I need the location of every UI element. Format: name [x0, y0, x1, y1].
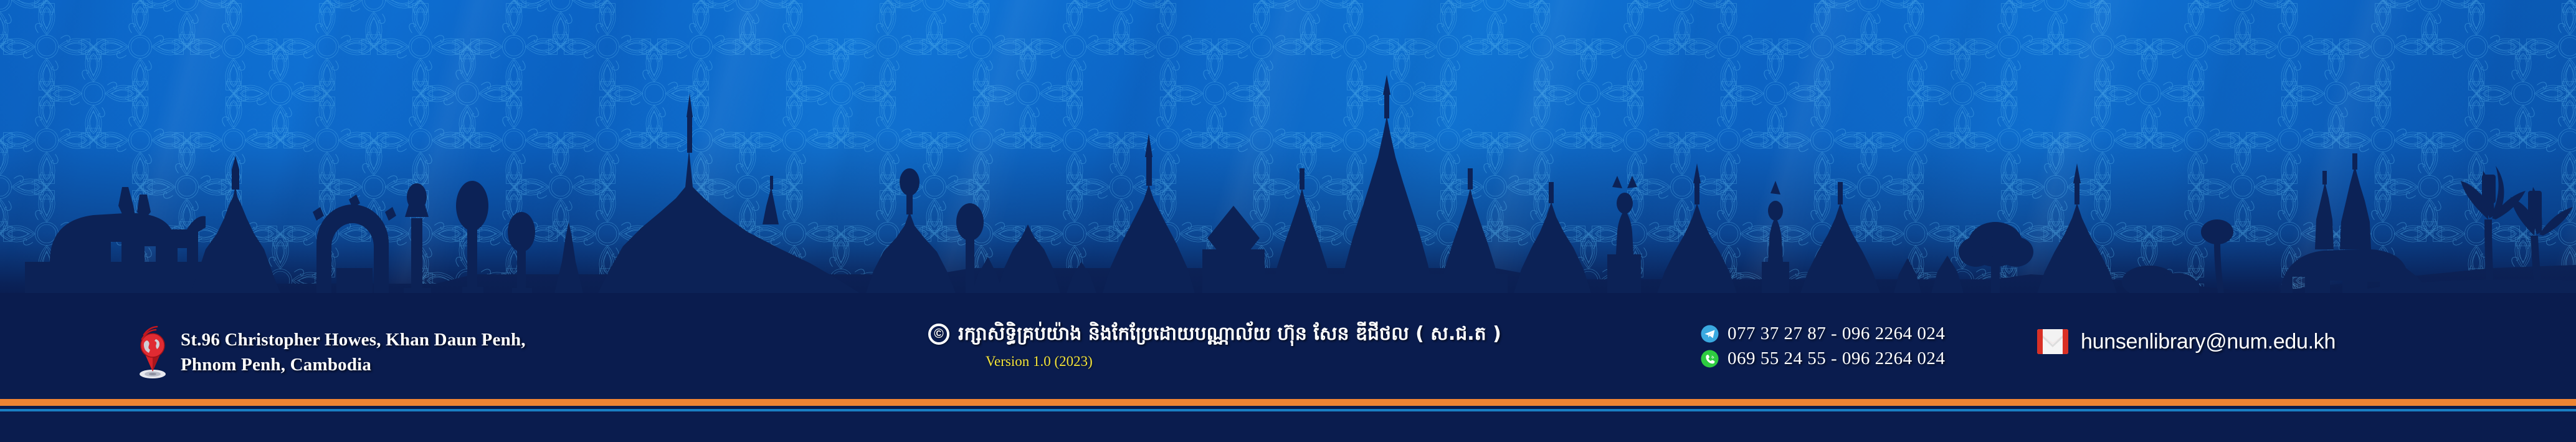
copyright-icon: ©: [928, 324, 949, 345]
cyan-divider-stripe: [0, 409, 2576, 411]
copyright-block: © រក្សាសិទ្ធិគ្រប់យ៉ាង និងកែប្រែដោយបណ្ណា…: [928, 322, 1501, 370]
copyright-row: © រក្សាសិទ្ធិគ្រប់យ៉ាង និងកែប្រែដោយបណ្ណា…: [928, 322, 1501, 347]
footer-banner: St.96 Christopher Howes, Khan Daun Penh,…: [0, 0, 2576, 442]
gmail-icon: [2037, 329, 2068, 354]
copyright-khmer-text: រក្សាសិទ្ធិគ្រប់យ៉ាង និងកែប្រែដោយបណ្ណាល័…: [958, 322, 1501, 347]
contact-row-telegram[interactable]: 077 37 27 87 - 096 2264 024: [1701, 323, 1945, 344]
email-block[interactable]: hunsenlibrary@num.edu.kh: [2037, 329, 2336, 354]
email-address: hunsenlibrary@num.edu.kh: [2081, 329, 2336, 354]
orange-divider-stripe: [0, 399, 2576, 406]
address-line-1: St.96 Christopher Howes, Khan Daun Penh,: [181, 330, 526, 350]
contact-row-phone[interactable]: 069 55 24 55 - 096 2264 024: [1701, 348, 1945, 369]
contact-phones-block: 077 37 27 87 - 096 2264 024 069 55 24 55…: [1701, 323, 1945, 369]
phone-number: 069 55 24 55 - 096 2264 024: [1728, 348, 1945, 369]
telegram-number: 077 37 27 87 - 096 2264 024: [1728, 323, 1945, 344]
footer-content: St.96 Christopher Howes, Khan Daun Penh,…: [0, 293, 2576, 399]
address-line-2: Phnom Penh, Cambodia: [181, 355, 371, 375]
phone-whatsapp-icon: [1701, 350, 1719, 368]
address-block: St.96 Christopher Howes, Khan Daun Penh,…: [138, 325, 526, 379]
location-pin-icon: [138, 325, 167, 379]
address-text: St.96 Christopher Howes, Khan Daun Penh,…: [181, 327, 526, 377]
telegram-icon: [1701, 325, 1719, 343]
version-label: Version 1.0 (2023): [986, 353, 1093, 370]
